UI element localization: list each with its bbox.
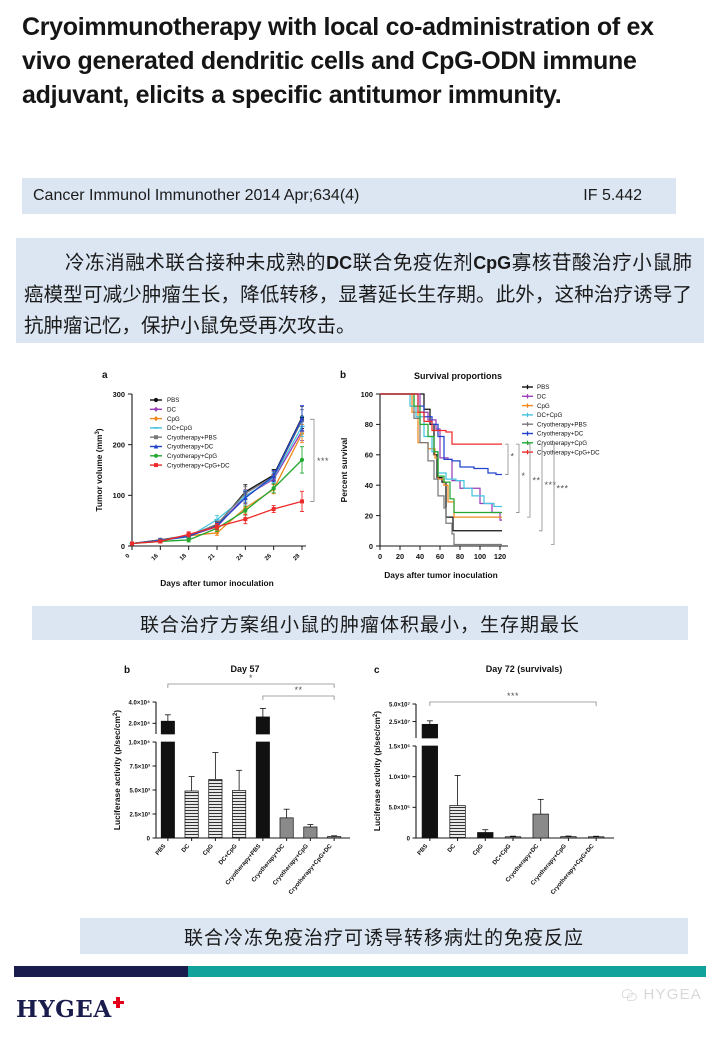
footer-bar-teal — [188, 966, 706, 977]
wechat-icon — [622, 987, 638, 1003]
svg-text:100: 100 — [361, 390, 373, 399]
svg-text:DC+CpG: DC+CpG — [492, 843, 513, 866]
svg-text:100: 100 — [474, 552, 486, 561]
svg-text:Cryotherapy+PBS: Cryotherapy+PBS — [167, 434, 217, 441]
day72-chart-title: Day 72 (survivals) — [444, 664, 604, 674]
svg-text:40: 40 — [416, 552, 424, 561]
svg-text:200: 200 — [113, 440, 125, 449]
abstract-bold-cpg: CpG — [473, 253, 511, 273]
svg-text:CpG: CpG — [537, 403, 550, 410]
svg-text:0: 0 — [407, 836, 411, 842]
svg-text:2.0×10⁴: 2.0×10⁴ — [129, 722, 151, 728]
svg-text:80: 80 — [365, 420, 373, 429]
svg-text:DC: DC — [181, 843, 192, 854]
watermark-text: HYGEA — [643, 986, 702, 1003]
svg-text:Tumor volume (mm3): Tumor volume (mm3) — [94, 428, 104, 511]
brand-logo-text: HYGEA — [16, 996, 112, 1023]
day57-bar-chart: 1.0×10⁴7.5×10³5.0×10³2.5×10³04.0×10⁴2.0×… — [110, 662, 372, 897]
svg-text:DC: DC — [537, 394, 546, 401]
svg-text:2.5×10³: 2.5×10³ — [129, 811, 150, 818]
svg-text:7.5×10³: 7.5×10³ — [129, 763, 150, 770]
svg-text:24: 24 — [236, 553, 245, 562]
svg-text:20: 20 — [396, 552, 404, 561]
watermark: HYGEA — [622, 986, 702, 1003]
figure-caption-1: 联合治疗方案组小鼠的肿瘤体积最小，生存期最长 — [32, 606, 688, 640]
figure-caption-2-text: 联合冷冻免疫治疗可诱导转移病灶的免疫反应 — [184, 923, 584, 950]
svg-text:Cryotherapy+DC: Cryotherapy+DC — [537, 431, 584, 438]
svg-text:5.0×10⁷: 5.0×10⁷ — [389, 702, 411, 708]
day57-chart-title: Day 57 — [180, 664, 310, 674]
svg-text:DC+CpG: DC+CpG — [537, 412, 562, 419]
svg-text:DC: DC — [167, 407, 176, 414]
figure-row-top: a 01002003000161821242628Tumor volume (m… — [88, 368, 628, 600]
svg-text:0: 0 — [121, 542, 125, 551]
svg-text:PBS: PBS — [537, 384, 549, 391]
figure-panel-b-survival: b Survival proportions 02040608010002040… — [334, 368, 628, 600]
svg-text:5.0×10³: 5.0×10³ — [129, 787, 150, 794]
svg-text:Percent survival: Percent survival — [339, 438, 349, 503]
journal-citation-bar: Cancer Immunol Immunother 2014 Apr;634(4… — [22, 178, 676, 214]
svg-text:Luciferase activity (p/sec/cm2: Luciferase activity (p/sec/cm2) — [372, 711, 382, 831]
svg-text:*: * — [249, 673, 253, 683]
figure-panel-a: a 01002003000161821242628Tumor volume (m… — [88, 368, 343, 600]
page-title: Cryoimmunotherapy with local co-administ… — [22, 10, 698, 112]
svg-text:Cryotherapy+CpG+DC: Cryotherapy+CpG+DC — [537, 449, 600, 456]
svg-text:Days after tumor inoculation: Days after tumor inoculation — [384, 570, 498, 580]
svg-text:1.5×10⁶: 1.5×10⁶ — [389, 744, 411, 750]
svg-text:0: 0 — [378, 552, 382, 561]
panel-letter-b-bar: b — [124, 665, 130, 676]
svg-text:Cryotherapy+CpG: Cryotherapy+CpG — [167, 453, 217, 460]
svg-text:Cryotherapy+CpG+DC: Cryotherapy+CpG+DC — [288, 843, 334, 896]
svg-text:Cryotherapy+DC: Cryotherapy+DC — [167, 444, 214, 451]
svg-text:***: *** — [317, 456, 329, 466]
journal-name: Cancer Immunol Immunother 2014 Apr;634(4… — [22, 187, 359, 205]
panel-letter-c: c — [374, 665, 380, 676]
svg-text:***: *** — [545, 480, 557, 490]
svg-text:CpG: CpG — [472, 843, 485, 857]
svg-text:16: 16 — [151, 553, 160, 562]
abstract-part-2: 联合免疫佐剂 — [352, 251, 473, 274]
svg-text:Cryotherapy+CpG+DC: Cryotherapy+CpG+DC — [167, 462, 230, 469]
svg-text:PBS: PBS — [167, 397, 179, 404]
svg-text:DC: DC — [447, 843, 458, 854]
svg-text:120: 120 — [494, 552, 506, 561]
panel-letter-b: b — [340, 370, 346, 381]
medical-cross-icon — [113, 997, 124, 1008]
svg-text:40: 40 — [365, 481, 373, 490]
svg-text:PBS: PBS — [417, 843, 430, 856]
svg-text:100: 100 — [113, 491, 125, 500]
svg-text:*: * — [511, 451, 515, 461]
abstract-box: 冷冻消融术联合接种未成熟的DC联合免疫佐剂CpG寡核苷酸治疗小鼠肺癌模型可减少肿… — [16, 238, 704, 343]
svg-text:1.0×10⁶: 1.0×10⁶ — [389, 775, 411, 781]
brand-logo: HYGEA — [16, 996, 124, 1023]
svg-text:0: 0 — [369, 542, 373, 551]
svg-text:2.5×10⁷: 2.5×10⁷ — [389, 720, 411, 726]
abstract-part-1: 冷冻消融术联合接种未成熟的 — [65, 251, 326, 274]
svg-text:21: 21 — [207, 553, 216, 562]
svg-text:**: ** — [533, 476, 541, 486]
svg-text:4.0×10⁴: 4.0×10⁴ — [129, 700, 151, 706]
figure-panel-b-day57: b Day 57 1.0×10⁴7.5×10³5.0×10³2.5×10³04.… — [110, 662, 372, 897]
svg-text:0: 0 — [147, 836, 151, 842]
svg-text:300: 300 — [113, 390, 125, 399]
svg-text:60: 60 — [365, 451, 373, 460]
svg-text:5.0×10⁵: 5.0×10⁵ — [389, 806, 411, 812]
svg-text:80: 80 — [456, 552, 464, 561]
svg-text:Cryotherapy+PBS: Cryotherapy+PBS — [537, 421, 587, 428]
svg-text:CpG: CpG — [167, 416, 180, 423]
svg-text:18: 18 — [179, 553, 188, 562]
svg-text:DC+CpG: DC+CpG — [167, 425, 192, 432]
svg-text:60: 60 — [436, 552, 444, 561]
svg-text:***: *** — [557, 483, 569, 493]
svg-text:Cryotherapy+CpG: Cryotherapy+CpG — [537, 440, 587, 447]
svg-text:20: 20 — [365, 511, 373, 520]
svg-text:26: 26 — [264, 553, 273, 562]
svg-text:Luciferase activity (p/sec/cm2: Luciferase activity (p/sec/cm2) — [112, 710, 122, 830]
figure-caption-2: 联合冷冻免疫治疗可诱导转移病灶的免疫反应 — [80, 918, 688, 954]
abstract-bold-dc: DC — [326, 253, 352, 273]
svg-text:DC+CpG: DC+CpG — [218, 843, 239, 866]
abstract-text: 冷冻消融术联合接种未成熟的DC联合免疫佐剂CpG寡核苷酸治疗小鼠肺癌模型可减少肿… — [16, 238, 704, 341]
survival-chart: 020406080100020406080100120Percent survi… — [334, 368, 628, 600]
survival-chart-title: Survival proportions — [378, 371, 538, 381]
svg-text:CpG: CpG — [202, 843, 215, 857]
tumor-volume-chart: 01002003000161821242628Tumor volume (mm3… — [88, 368, 343, 600]
footer-bar-navy — [14, 966, 188, 977]
figure-panel-c-day72: c Day 72 (survivals) 1.5×10⁶1.0×10⁶5.0×1… — [372, 662, 650, 897]
svg-text:28: 28 — [292, 553, 301, 562]
svg-text:PBS: PBS — [155, 843, 168, 856]
svg-text:1.0×10⁴: 1.0×10⁴ — [129, 740, 151, 746]
svg-text:Days after tumor inoculation: Days after tumor inoculation — [160, 578, 274, 588]
svg-text:*: * — [522, 471, 526, 481]
panel-letter-a: a — [102, 370, 108, 381]
impact-factor: IF 5.442 — [583, 187, 642, 205]
svg-text:0: 0 — [125, 553, 132, 560]
svg-text:***: *** — [507, 691, 519, 701]
day72-bar-chart: 1.5×10⁶1.0×10⁶5.0×10⁵05.0×10⁷2.5×10⁷Luci… — [372, 662, 650, 897]
figure-row-bottom: b Day 57 1.0×10⁴7.5×10³5.0×10³2.5×10³04.… — [110, 662, 650, 897]
svg-text:**: ** — [294, 685, 302, 695]
figure-caption-1-text: 联合治疗方案组小鼠的肿瘤体积最小，生存期最长 — [140, 610, 580, 637]
